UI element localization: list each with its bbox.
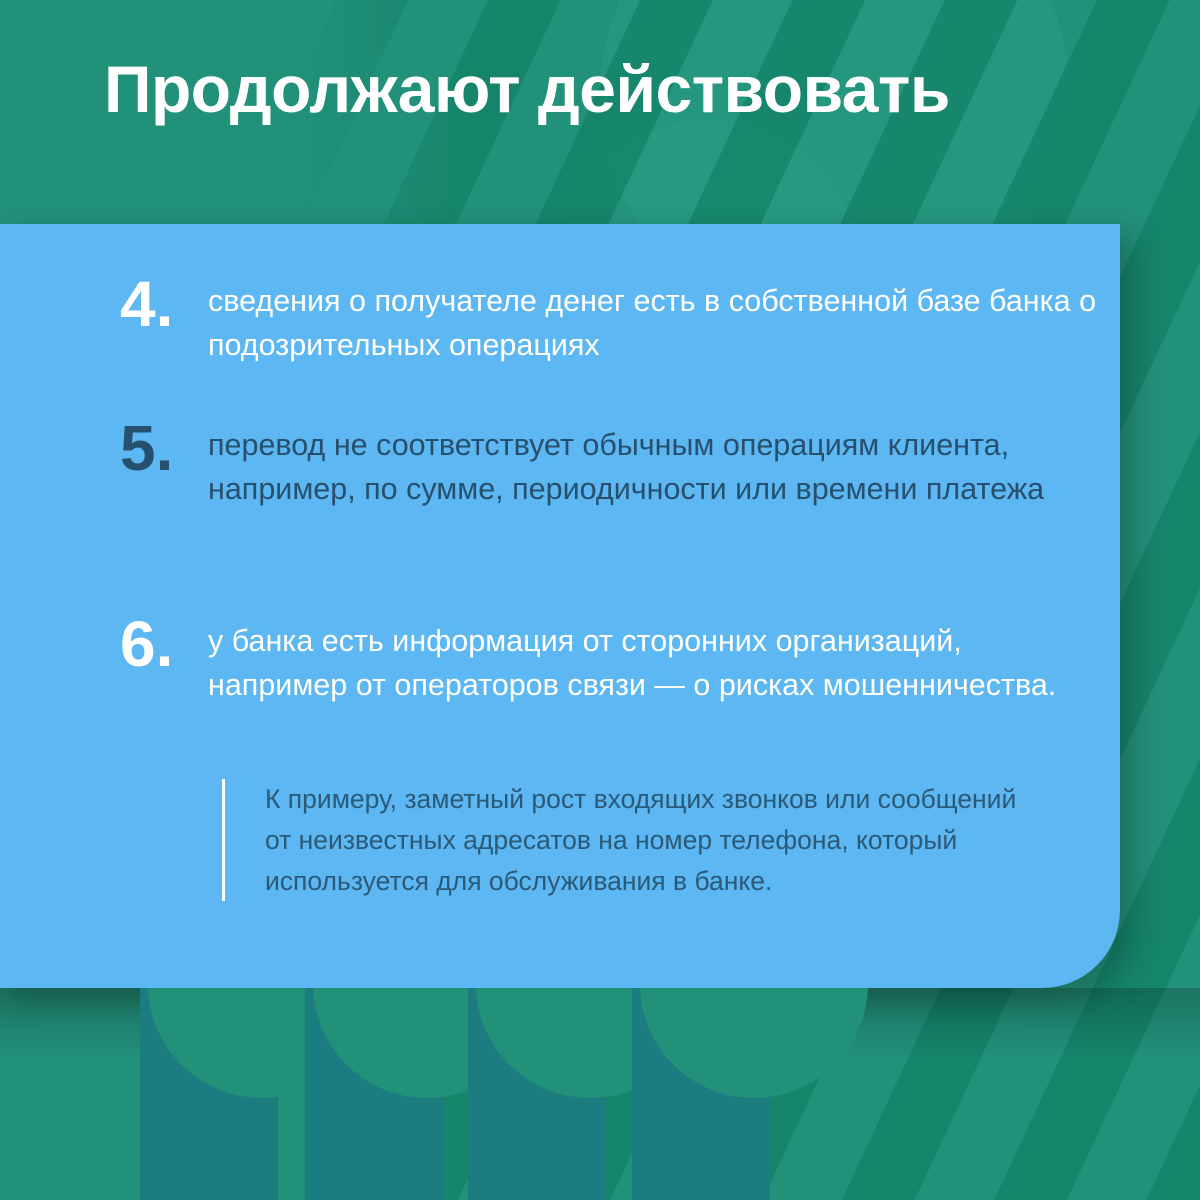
list-item-5-text: перевод не соответствует обычным операци… bbox=[208, 416, 1108, 511]
claw-shape-3 bbox=[468, 988, 606, 1200]
list-item-4-text: сведения о получателе денег есть в собст… bbox=[208, 272, 1108, 367]
claw-shape-4 bbox=[632, 988, 770, 1200]
bottom-decoration bbox=[0, 988, 1200, 1200]
list-item-6-text: у банка есть информация от сторонних орг… bbox=[208, 612, 1108, 707]
list-item-4: 4. сведения о получателе денег есть в со… bbox=[112, 272, 1108, 367]
content-card: 4. сведения о получателе денег есть в со… bbox=[0, 224, 1120, 988]
page-title: Продолжают действовать bbox=[104, 56, 1144, 123]
example-note: К примеру, заметный рост входящих звонко… bbox=[222, 779, 1025, 901]
list-item-6-number: 6. bbox=[112, 612, 208, 676]
infographic-slide: Продолжают действовать 4. сведения о пол… bbox=[0, 0, 1200, 1200]
claw-shape-2 bbox=[305, 988, 443, 1200]
list-item-6: 6. у банка есть информация от сторонних … bbox=[112, 612, 1108, 707]
list-item-4-number: 4. bbox=[112, 272, 208, 336]
list-item-5-number: 5. bbox=[112, 416, 208, 480]
claw-shape-1 bbox=[140, 988, 278, 1200]
list-item-5: 5. перевод не соответствует обычным опер… bbox=[112, 416, 1108, 511]
